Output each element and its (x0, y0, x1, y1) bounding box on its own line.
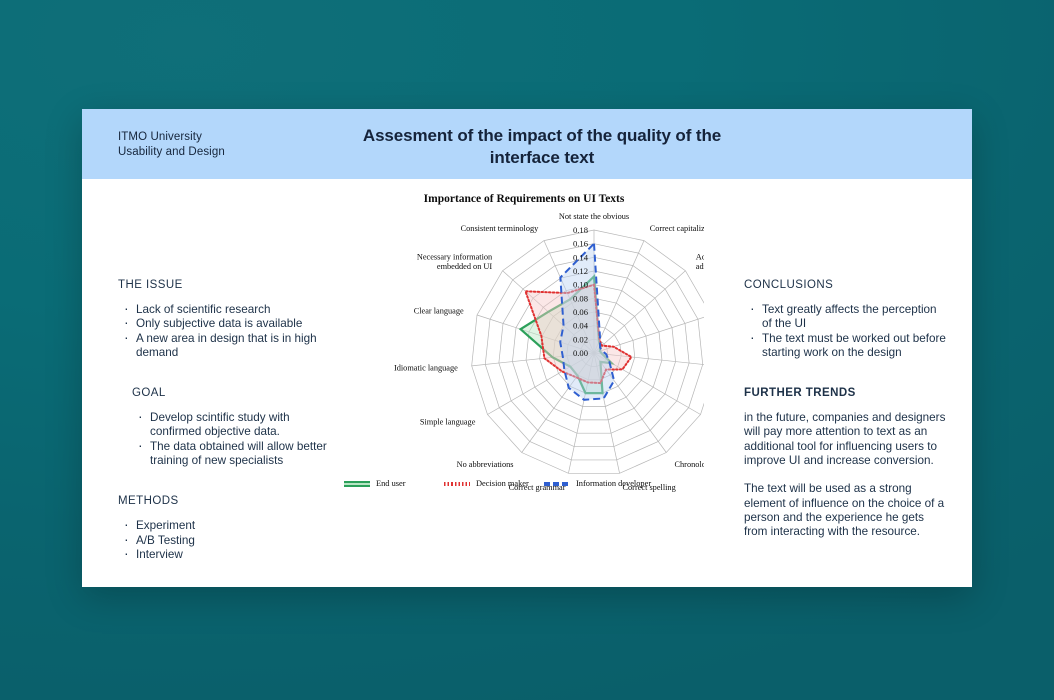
radar-axis-label: adress (696, 262, 704, 271)
radial-tick-label: 0.06 (573, 307, 589, 317)
slide-body: THE ISSUE Lack of scientific research On… (82, 179, 972, 587)
radar-axis-label: Chronological order (675, 460, 705, 469)
radial-tick-label: 0.14 (573, 252, 589, 262)
organization-name: ITMO University Usability and Design (118, 130, 225, 159)
radial-tick-label: 0.02 (573, 334, 588, 344)
the-issue-heading: THE ISSUE (118, 279, 333, 291)
conclusions-heading: CONCLUSIONS (744, 279, 949, 291)
radar-axis-label: Consistent terminology (461, 224, 540, 233)
slide-title: Assesment of the impact of the quality o… (332, 125, 752, 169)
org-line-1: ITMO University (118, 130, 225, 145)
list-item: Interview (118, 548, 333, 562)
radar-axis-label: Necessary information (417, 253, 493, 262)
the-issue-list: Lack of scientific research Only subject… (118, 303, 333, 360)
methods-heading: METHODS (118, 495, 333, 507)
list-item: The text must be worked out before start… (744, 332, 949, 361)
radar-axis-label: Simple language (420, 418, 476, 427)
radial-tick-label: 0.04 (573, 321, 589, 331)
goal-heading: GOAL (132, 387, 333, 399)
list-item: The data obtained will allow better trai… (132, 440, 333, 469)
chart-legend: End userDecision makerInformation develo… (344, 479, 704, 503)
conclusions-list: Text greatly affects the perception of t… (744, 303, 949, 360)
section-goal: GOAL Develop scintific study with confir… (118, 387, 333, 468)
radial-tick-label: 0.00 (573, 348, 588, 358)
further-trends-heading: FURTHER TRENDS (744, 387, 949, 399)
legend-item-end-user: End user (344, 479, 406, 488)
radar-axis-label: embedded on UI (437, 262, 493, 271)
legend-swatch (344, 481, 370, 487)
chart-area: Importance of Requirements on UI Texts 0… (344, 179, 704, 587)
legend-item-decision-maker: Decision maker (444, 479, 529, 488)
section-methods: METHODS Experiment A/B Testing Interview (118, 495, 333, 562)
radar-axis-label: Not state the obvious (559, 212, 629, 221)
radar-axis-label: Correct capitalization (650, 224, 704, 233)
radial-tick-label: 0.10 (573, 280, 588, 290)
legend-swatch (444, 482, 470, 486)
list-item: Experiment (118, 519, 333, 533)
radar-axis-label: No abbreviations (457, 460, 514, 469)
radar-axis-label: Clear language (414, 307, 464, 316)
list-item: Only subjective data is available (118, 317, 333, 331)
list-item: A/B Testing (118, 534, 333, 548)
right-column: CONCLUSIONS Text greatly affects the per… (744, 179, 949, 554)
radar-axis-label: Active voice and direct (696, 253, 704, 262)
section-further-trends: FURTHER TRENDS in the future, companies … (744, 387, 949, 539)
methods-list: Experiment A/B Testing Interview (118, 519, 333, 562)
radial-tick-label: 0.12 (573, 266, 588, 276)
radial-tick-label: 0.08 (573, 293, 588, 303)
radar-chart: 0.000.020.040.060.080.100.120.140.160.18… (344, 203, 704, 493)
radar-axis-label: Idiomatic language (394, 363, 458, 372)
desktop-background: ITMO University Usability and Design Ass… (0, 0, 1054, 700)
goal-list: Develop scintific study with confirmed o… (132, 411, 333, 468)
further-trends-paragraph-2: The text will be used as a strong elemen… (744, 482, 949, 539)
legend-item-information-developer: Information developer (544, 479, 651, 488)
list-item: A new area in design that is in high dem… (118, 332, 333, 361)
presentation-slide: ITMO University Usability and Design Ass… (82, 109, 972, 587)
radial-tick-label: 0.18 (573, 225, 588, 235)
list-item: Develop scintific study with confirmed o… (132, 411, 333, 440)
slide-header: ITMO University Usability and Design Ass… (82, 109, 972, 179)
legend-swatch (544, 482, 570, 486)
legend-label: End user (376, 479, 406, 488)
section-conclusions: CONCLUSIONS Text greatly affects the per… (744, 279, 949, 360)
org-line-2: Usability and Design (118, 145, 225, 160)
list-item: Lack of scientific research (118, 303, 333, 317)
radial-tick-label: 0.16 (573, 239, 589, 249)
further-trends-paragraph-1: in the future, companies and designers w… (744, 411, 949, 468)
legend-label: Decision maker (476, 479, 529, 488)
section-the-issue: THE ISSUE Lack of scientific research On… (118, 279, 333, 360)
legend-label: Information developer (576, 479, 651, 488)
left-column: THE ISSUE Lack of scientific research On… (118, 179, 333, 562)
list-item: Text greatly affects the perception of t… (744, 303, 949, 332)
